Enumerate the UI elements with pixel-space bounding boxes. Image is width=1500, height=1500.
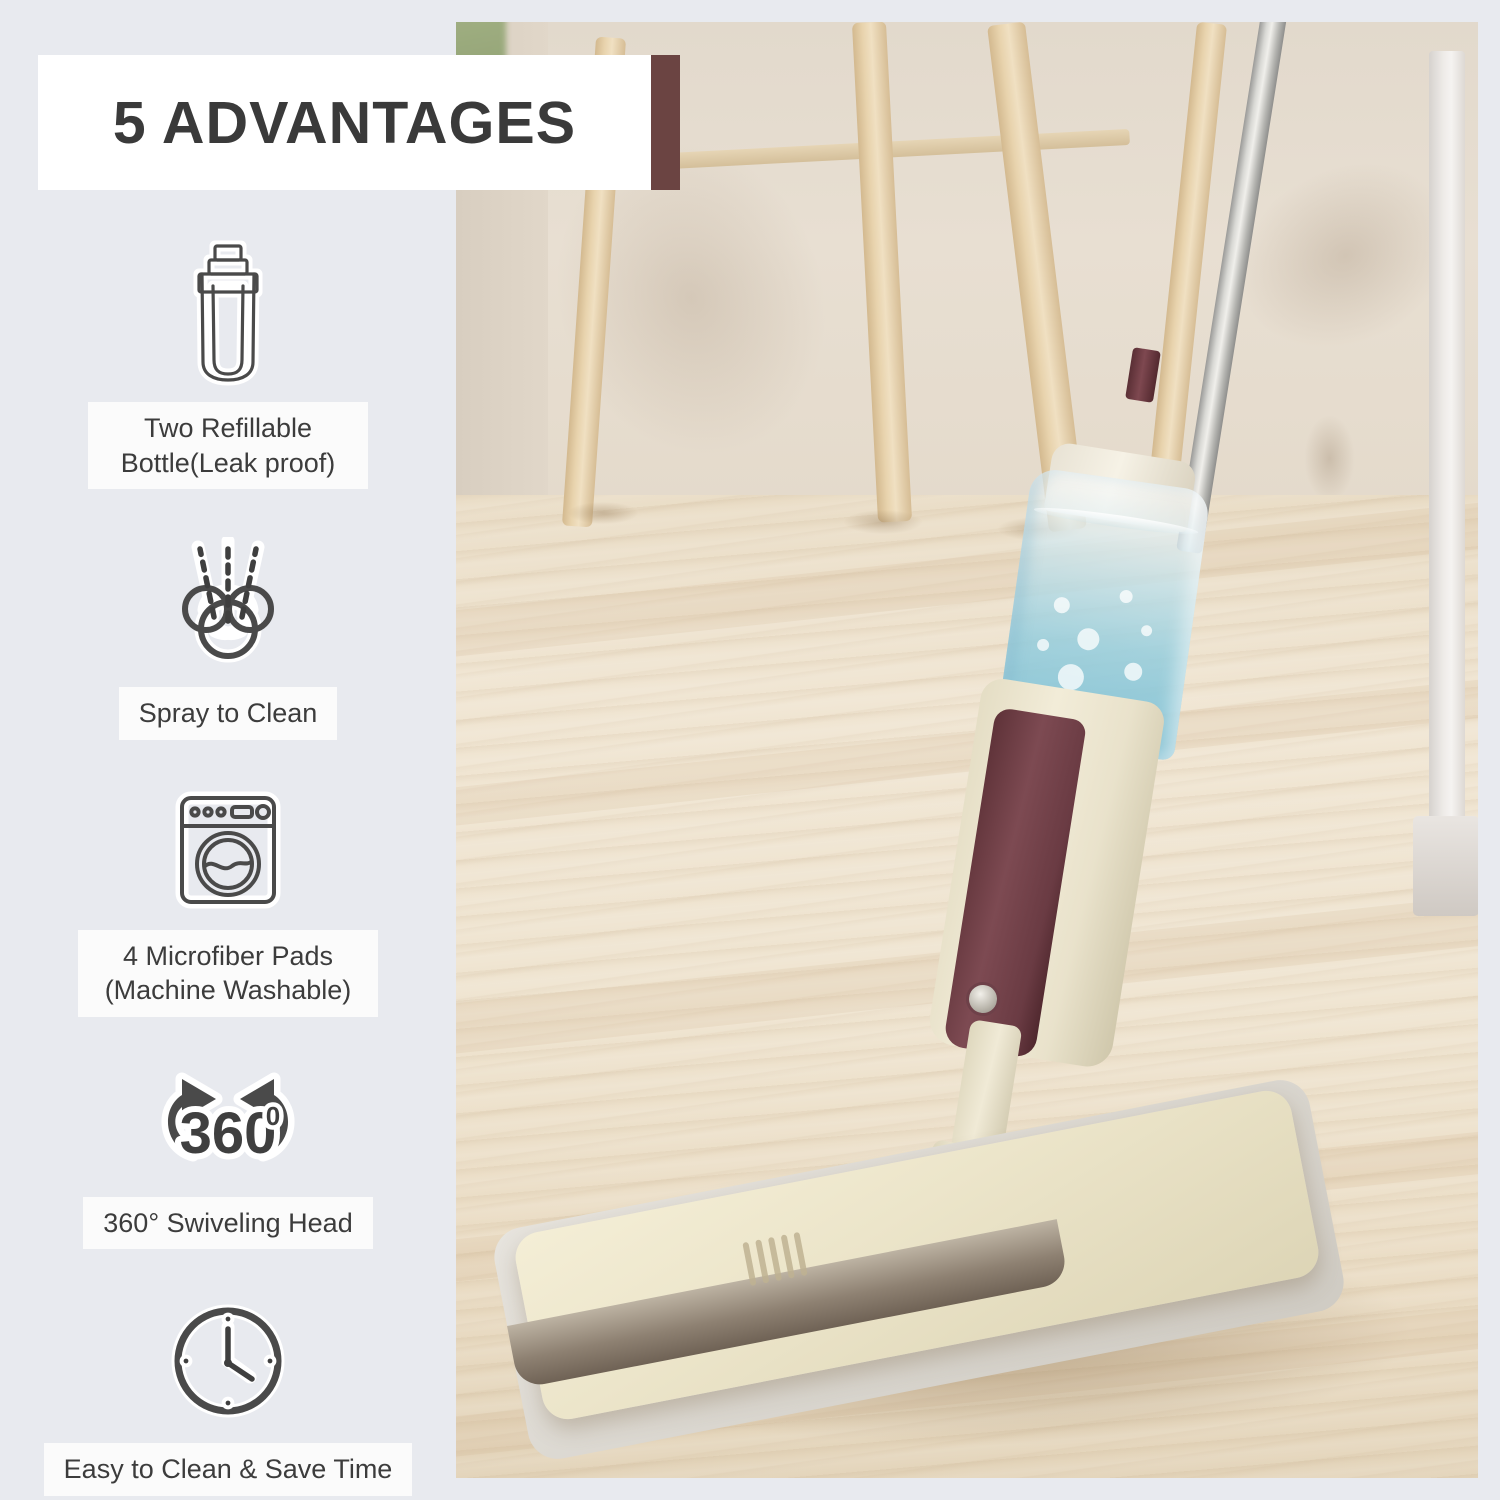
label-line-1: Easy to Clean & Save Time bbox=[64, 1452, 393, 1487]
label-line-2: (Machine Washable) bbox=[98, 973, 358, 1008]
feature-label-spray-to-clean: Spray to Clean bbox=[119, 687, 338, 740]
label-line-1: Two Refillable bbox=[108, 411, 348, 446]
feature-item-spray-to-clean: Spray to Clean bbox=[0, 537, 456, 740]
water-surface bbox=[1033, 503, 1199, 538]
svg-text:360: 360 bbox=[180, 1101, 277, 1166]
wall-shadow bbox=[1304, 415, 1355, 502]
stool-leg-shadow bbox=[844, 510, 922, 534]
rotation-360-icon: 360 360 0 0 bbox=[148, 1069, 308, 1173]
bubble bbox=[1119, 589, 1134, 604]
feature-label-easy-to-clean: Easy to Clean & Save Time bbox=[44, 1443, 413, 1496]
furniture-leg bbox=[1429, 51, 1465, 851]
title-accent-bar bbox=[651, 55, 680, 190]
feature-label-swiveling-head: 360° Swiveling Head bbox=[83, 1197, 372, 1250]
refill-bottle-icon bbox=[169, 238, 287, 388]
page-title: 5 ADVANTAGES bbox=[113, 89, 576, 157]
label-line-1: 4 Microfiber Pads bbox=[98, 939, 358, 974]
label-line-1: Spray to Clean bbox=[139, 696, 318, 731]
feature-label-refillable-bottle: Two Refillable Bottle(Leak proof) bbox=[88, 402, 368, 489]
label-line-1: 360° Swiveling Head bbox=[103, 1206, 352, 1241]
washing-machine-icon bbox=[164, 786, 292, 914]
feature-item-refillable-bottle: Two Refillable Bottle(Leak proof) bbox=[0, 238, 456, 489]
title-banner: 5 ADVANTAGES bbox=[38, 55, 680, 190]
bubble bbox=[1140, 625, 1152, 637]
feature-item-swiveling-head: 360 360 0 0 360° Swiveling Head bbox=[0, 1069, 456, 1250]
spray-nozzle-icon bbox=[158, 537, 298, 669]
feature-label-microfiber-pads: 4 Microfiber Pads (Machine Washable) bbox=[78, 930, 378, 1017]
advantages-list: Two Refillable Bottle(Leak proof) bbox=[0, 238, 456, 1496]
bubble bbox=[1036, 638, 1050, 652]
title-box: 5 ADVANTAGES bbox=[38, 55, 651, 190]
infographic-page: 5 ADVANTAGES bbox=[0, 0, 1500, 1500]
bubble bbox=[1076, 627, 1101, 652]
bubble bbox=[1052, 596, 1070, 614]
product-photo bbox=[456, 22, 1478, 1478]
label-line-2: Bottle(Leak proof) bbox=[108, 446, 348, 481]
feature-item-easy-to-clean: Easy to Clean & Save Time bbox=[0, 1297, 456, 1496]
bubble bbox=[1123, 661, 1143, 681]
svg-text:0: 0 bbox=[266, 1101, 280, 1131]
furniture-foot bbox=[1413, 816, 1478, 916]
clock-icon bbox=[164, 1297, 292, 1425]
feature-item-microfiber-pads: 4 Microfiber Pads (Machine Washable) bbox=[0, 786, 456, 1017]
